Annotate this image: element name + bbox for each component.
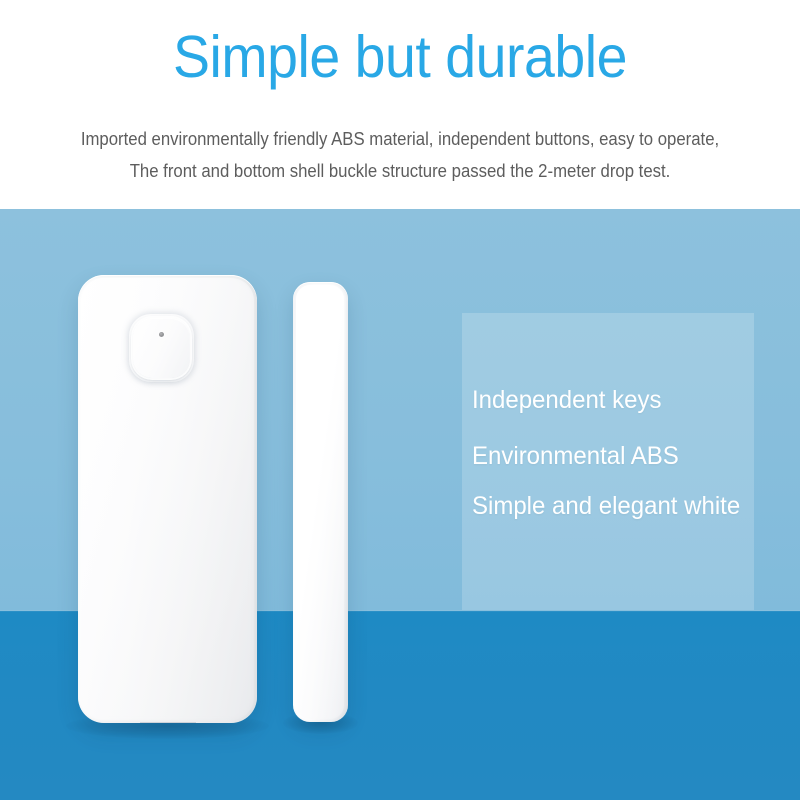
door-window-sensor-front (78, 275, 257, 723)
subtitle-line-1: Imported environmentally friendly ABS ma… (28, 128, 772, 150)
page-title: Simple but durable (24, 22, 776, 92)
product-feature-banner: Simple but durable Imported environmenta… (0, 0, 800, 800)
subtitle-line-2: The front and bottom shell buckle struct… (28, 160, 772, 182)
header-band: Simple but durable Imported environmenta… (0, 0, 800, 209)
door-window-sensor-side-profile (293, 282, 348, 722)
product-scene: Independent keys Environmental ABS Simpl… (0, 209, 800, 800)
independent-button (133, 318, 190, 378)
feature-item-environmental-abs: Environmental ABS (472, 441, 750, 471)
feature-callout-panel: Independent keys Environmental ABS Simpl… (462, 313, 754, 610)
feature-item-independent-keys: Independent keys (472, 385, 750, 415)
feature-item-simple-elegant-white: Simple and elegant white (472, 491, 750, 521)
status-led-icon (159, 332, 164, 337)
